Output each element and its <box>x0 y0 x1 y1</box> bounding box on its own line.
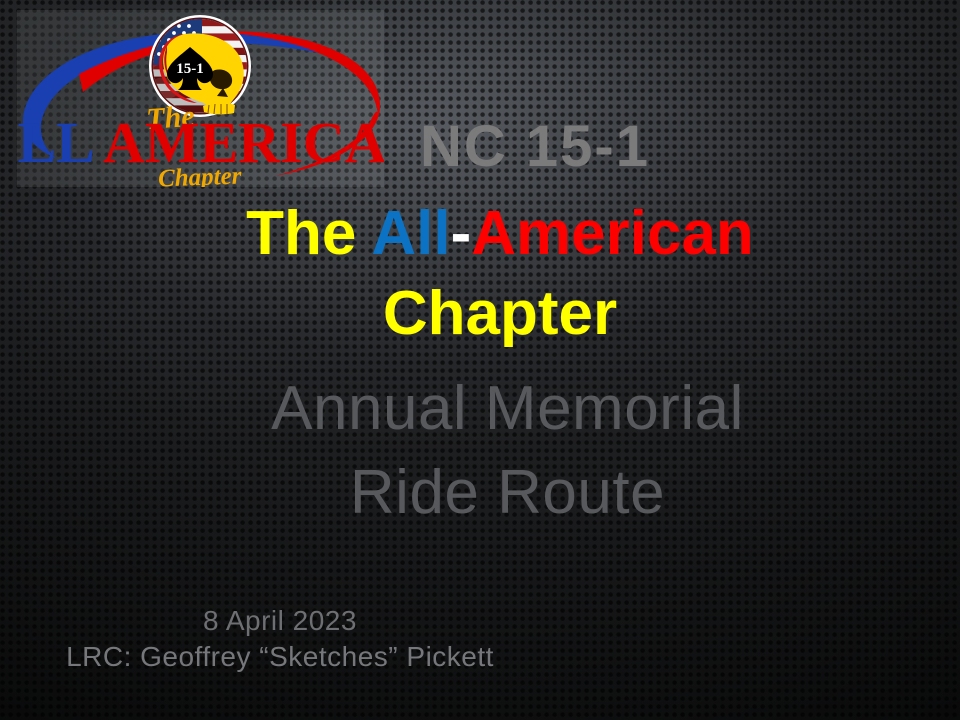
event-date: 8 April 2023 <box>0 605 560 637</box>
chapter-id-heading: NC 15-1 <box>0 118 960 176</box>
title-word-the: The <box>246 199 356 268</box>
presentation-slide: 15-1 The ALL AMERICAN Chapter NC 15-1 Th… <box>0 0 960 720</box>
subtitle-line-1-text: Annual Memorial <box>271 374 744 443</box>
lrc-credit: LRC: Geoffrey “Sketches” Pickett <box>0 641 560 673</box>
subtitle-line-1: Annual Memorial <box>0 378 960 440</box>
title-word-american: American <box>471 199 754 268</box>
chapter-id-text: NC 15-1 <box>420 114 650 179</box>
title-block: NC 15-1 The All-American Chapter Annual … <box>0 0 960 720</box>
title-hyphen: - <box>451 199 472 268</box>
subtitle-line-2-text: Ride Route <box>350 458 665 527</box>
chapter-title-line-1: The All-American <box>0 203 960 265</box>
chapter-title-line-2: Chapter <box>0 283 960 345</box>
title-word-chapter: Chapter <box>383 279 617 348</box>
title-word-all: All <box>371 199 450 268</box>
event-date-text: 8 April 2023 <box>203 605 357 636</box>
lrc-credit-text: LRC: Geoffrey “Sketches” Pickett <box>66 641 494 672</box>
subtitle-line-2: Ride Route <box>0 462 960 524</box>
